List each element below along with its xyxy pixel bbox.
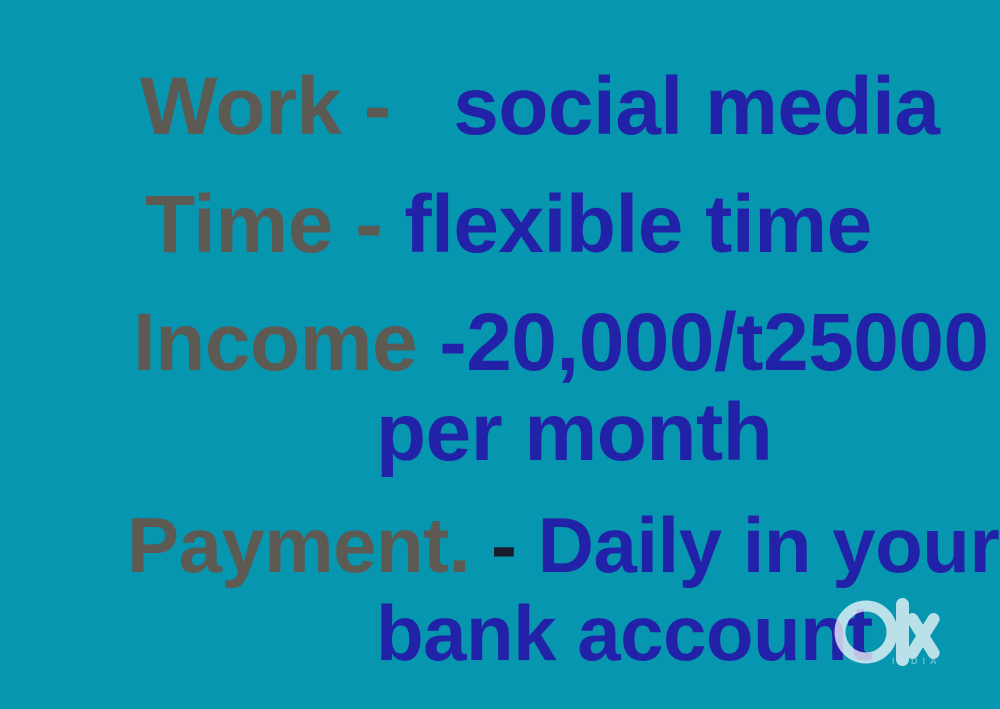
- row-income-value: -20,000/t25000: [439, 297, 988, 388]
- row-time: Time - flexible time: [145, 178, 872, 272]
- row-payment-label: Payment.: [127, 501, 470, 589]
- row-work-label: Work: [140, 61, 342, 152]
- advertisement-text-block: Work - social media Time - flexible time…: [0, 0, 1000, 709]
- row-work-separator: -: [364, 61, 391, 152]
- row-time-separator: -: [355, 179, 382, 270]
- row-payment: Payment. - Daily in your: [127, 500, 999, 591]
- row-time-label: Time: [145, 179, 333, 270]
- row-payment-value-wrap: bank account: [376, 588, 873, 679]
- row-income-label: Income: [133, 297, 417, 388]
- row-payment-separator: -: [491, 501, 516, 589]
- row-work: Work - social media: [140, 60, 939, 154]
- row-work-value: social media: [453, 61, 939, 152]
- row-payment-value: Daily in your: [538, 501, 1000, 589]
- row-time-value: flexible time: [404, 179, 871, 270]
- row-income-value-wrap: per month: [376, 386, 772, 480]
- advertisement-poster: Work - social media Time - flexible time…: [0, 0, 1000, 709]
- row-income: Income -20,000/t25000: [133, 296, 989, 390]
